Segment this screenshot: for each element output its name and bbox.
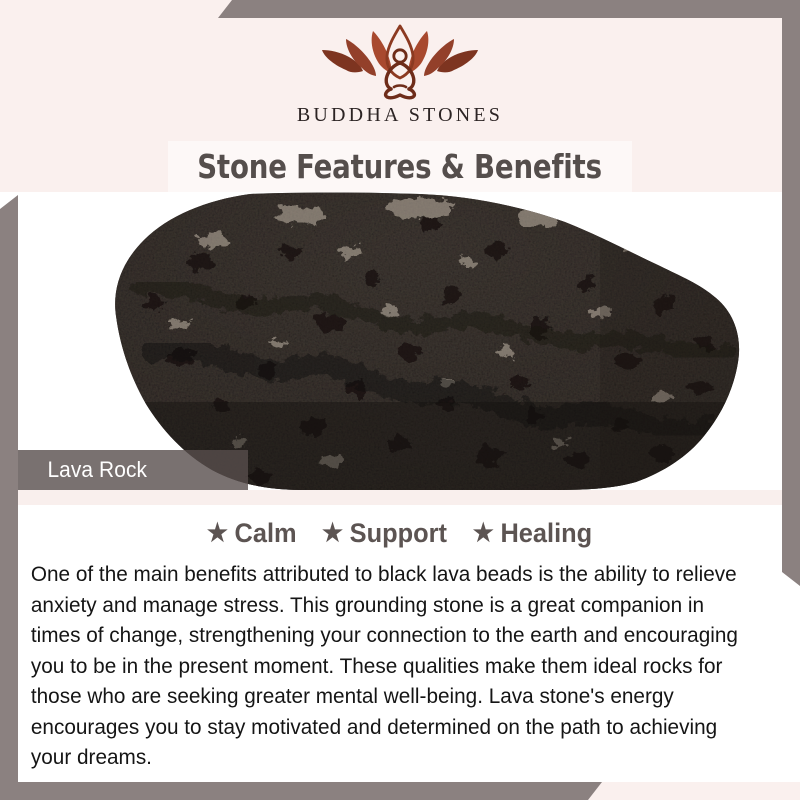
keyword-item: ★ Calm [207,518,297,549]
infographic-card: Lava Rock [0,0,800,800]
frame-band-left [0,195,18,800]
frame-band-bottom [0,782,602,800]
page-title: Stone Features & Benefits [198,147,603,186]
lotus-meditation-icon [316,18,484,102]
frame-band-right [782,0,800,586]
content-panel: ★ Calm ★ Support ★ Healing One of the ma… [0,505,800,782]
keyword-item: ★ Support [322,518,447,549]
description-paragraph: One of the main benefits attributed to b… [0,559,780,773]
stone-name-badge: Lava Rock [18,450,248,490]
brand-name-label: BUDDHA STONES [297,104,503,127]
keyword-item: ★ Healing [473,518,592,549]
pink-divider-strip [0,490,800,505]
star-icon: ★ [322,521,343,546]
brand-logo[interactable]: BUDDHA STONES [0,18,800,127]
frame-band-top [218,0,800,18]
section-title-bar: Stone Features & Benefits [168,141,632,192]
lava-rock-illustration [0,192,800,490]
stone-name-label: Lava Rock [18,457,147,483]
stone-photo [0,192,800,490]
star-icon: ★ [207,521,228,546]
star-icon: ★ [473,521,494,546]
keyword-label: Healing [500,518,592,549]
keyword-label: Calm [235,518,297,549]
keyword-label: Support [349,518,446,549]
benefit-keywords: ★ Calm ★ Support ★ Healing [0,505,800,549]
